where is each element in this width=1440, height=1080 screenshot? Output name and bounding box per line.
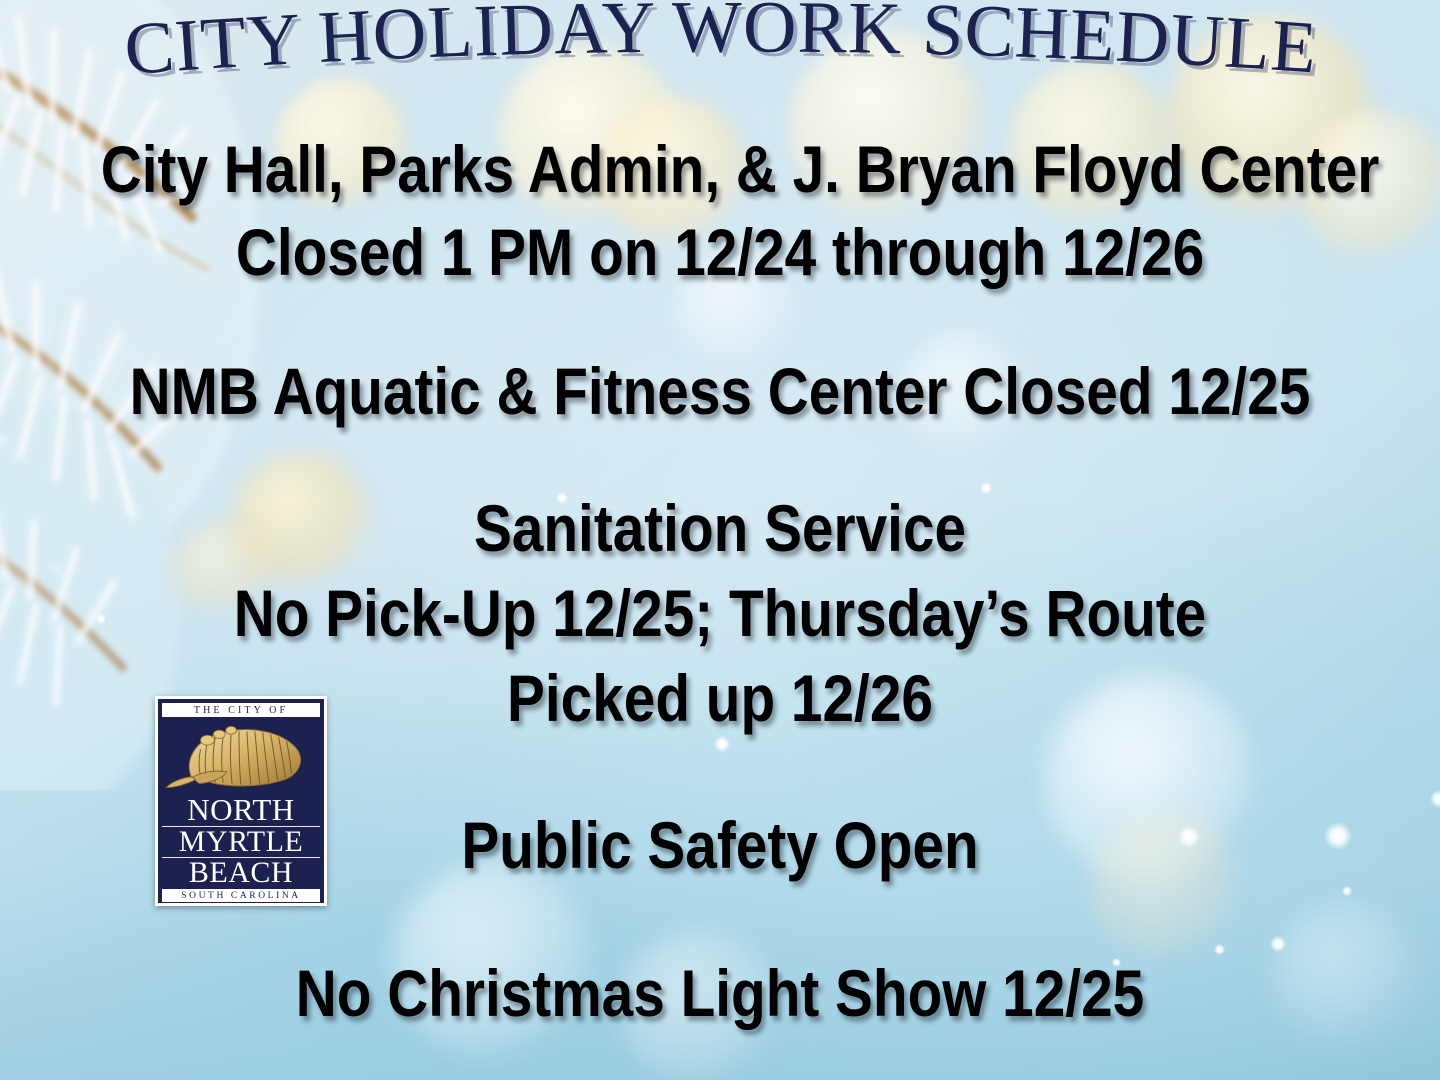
city-logo: THE CITY OF	[155, 696, 327, 906]
logo-word-north: NORTH	[162, 796, 320, 825]
city-hall-line-1: City Hall, Parks Admin, & J. Bryan Floyd…	[101, 136, 1339, 202]
page-title-text: CITY HOLIDAY WORK SCHEDULE	[122, 0, 1320, 91]
logo-word-myrtle: MYRTLE	[162, 828, 320, 856]
logo-divider-2	[162, 857, 320, 858]
holiday-schedule-poster: CITY HOLIDAY WORK SCHEDULE CITY HOLIDAY …	[0, 0, 1440, 1080]
logo-divider-1	[162, 826, 320, 827]
aquatic-center-line: NMB Aquatic & Fitness Center Closed 12/2…	[101, 358, 1339, 424]
sanitation-line-1: No Pick-Up 12/25; Thursday’s Route	[101, 580, 1339, 646]
page-title: CITY HOLIDAY WORK SCHEDULE CITY HOLIDAY …	[0, 0, 1440, 96]
conch-shell-icon	[162, 720, 320, 794]
logo-city-name: NORTH MYRTLE BEACH	[162, 795, 320, 889]
logo-top-band: THE CITY OF	[162, 703, 320, 717]
city-hall-line-2: Closed 1 PM on 12/24 through 12/26	[101, 219, 1339, 285]
page-title-fill: CITY HOLIDAY WORK SCHEDULE	[122, 0, 1320, 91]
logo-word-beach: BEACH	[162, 859, 320, 887]
light-show-line: No Christmas Light Show 12/25	[101, 960, 1339, 1026]
sanitation-heading: Sanitation Service	[101, 495, 1339, 561]
logo-bottom-band: SOUTH CAROLINA	[162, 889, 320, 902]
